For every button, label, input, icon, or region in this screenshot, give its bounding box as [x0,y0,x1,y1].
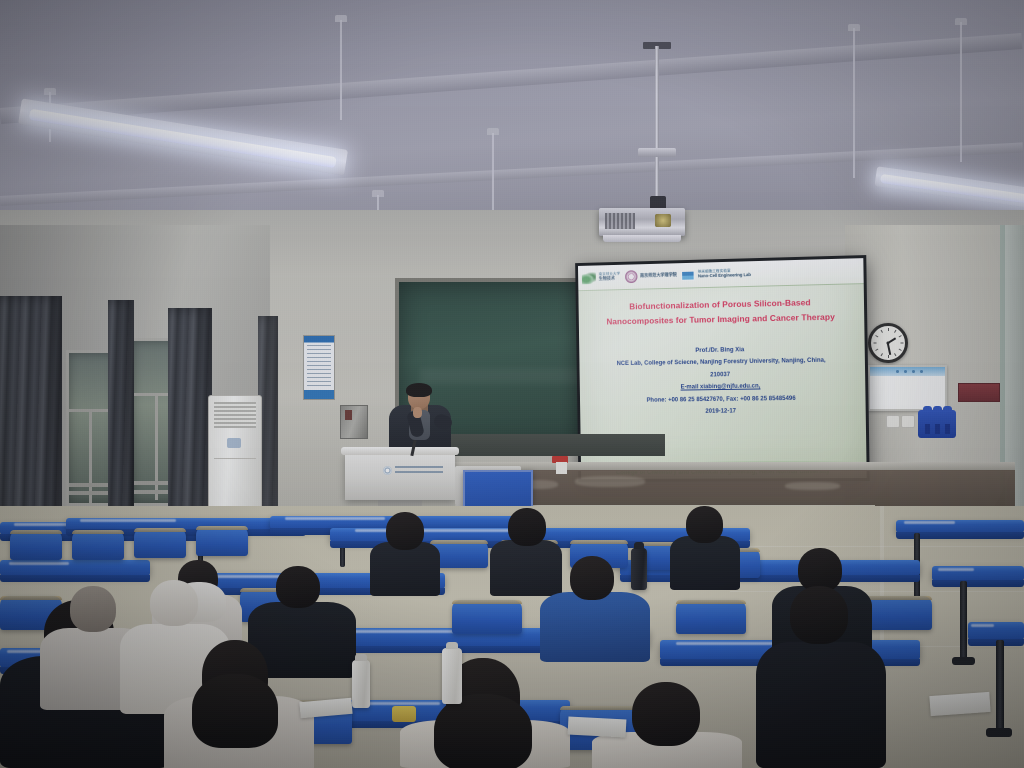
desk-foot [952,657,975,665]
wall-clock [868,323,908,363]
desk-leg [960,581,967,659]
podium-university-emblem [383,466,392,475]
desk-row-far-right[interactable] [896,520,1024,533]
logo-item-normal-university: 南京师范大学理学院 [625,269,677,283]
wall-skirt [455,470,1015,508]
presenter-hair [406,383,432,397]
wall-whiteboard [868,365,947,411]
curtain-left-2 [108,300,134,522]
chair-back[interactable] [134,528,186,558]
desk-leg [996,640,1004,732]
logo-en-text: 生物技术 [599,277,620,282]
desk-row-right-2[interactable] [932,566,1024,581]
logo-en-text: Nano-Cell Engineering Lab [698,273,751,279]
light-hanger-rod [853,28,855,178]
chair-back[interactable] [196,526,248,556]
audience-member [164,640,314,768]
paper-notes[interactable] [929,692,990,716]
curtain-left-1 [0,296,62,526]
lecture-hall-photo: 南京林业大学 生物技术 南京师范大学理学院 纳米细胞工程实验室 Nano-Cel… [0,0,1024,768]
chair-back[interactable] [452,600,522,634]
red-wall-sign [958,383,1000,402]
audience-member [400,658,570,768]
logo-en-text: 南京师范大学理学院 [640,273,677,278]
audience-member [370,512,440,592]
logo-item-nano-cell-lab: 纳米细胞工程实验室 Nano-Cell Engineering Lab [682,269,751,281]
presenter-hand-with-microphone [413,407,422,418]
leaf-logo-icon [582,272,596,284]
slide-date: 2019-12-17 [589,405,855,420]
logo-item-forestry: 南京林业大学 生物技术 [582,271,620,284]
white-label-tag [556,462,567,474]
wall-power-outlets[interactable] [886,415,914,426]
slide-body: Prof./Dr. Bing Xia NCE Lab, College of S… [589,342,856,420]
seal-logo-icon [625,270,637,283]
nano-logo-icon [682,270,696,280]
ceiling-projector [599,208,685,236]
chair-back[interactable] [72,530,124,560]
chair-back[interactable] [676,600,746,634]
light-hanger-rod [960,22,962,162]
blue-fire-equipment-box [918,410,956,438]
white-thermos-bottle[interactable] [352,660,370,708]
projector-pole-plate [638,148,676,157]
audience-member [756,586,886,768]
desk-row-left-2[interactable] [0,560,150,576]
paper-notes[interactable] [568,716,627,737]
desk-foot [986,728,1012,737]
white-thermos-bottle[interactable] [442,648,462,704]
light-hanger-rod [340,20,342,120]
yellow-cup[interactable] [392,706,416,722]
projector-lens [655,214,671,227]
electrical-control-box [340,405,368,439]
slide-logo-band: 南京林业大学 生物技术 南京师范大学理学院 纳米细胞工程实验室 Nano-Cel… [578,258,864,291]
wall-schedule-poster [303,335,335,400]
projector-pole [655,46,659,212]
curtain-left-3 [168,308,212,522]
black-thermos-bottle[interactable] [631,548,647,590]
desk-row-right-3[interactable] [968,622,1024,640]
audience-member [670,506,740,586]
chair-back[interactable] [10,530,62,560]
lectern-podium [345,452,455,500]
slide-title: Biofunctionalization of Porous Silicon-B… [583,294,859,330]
